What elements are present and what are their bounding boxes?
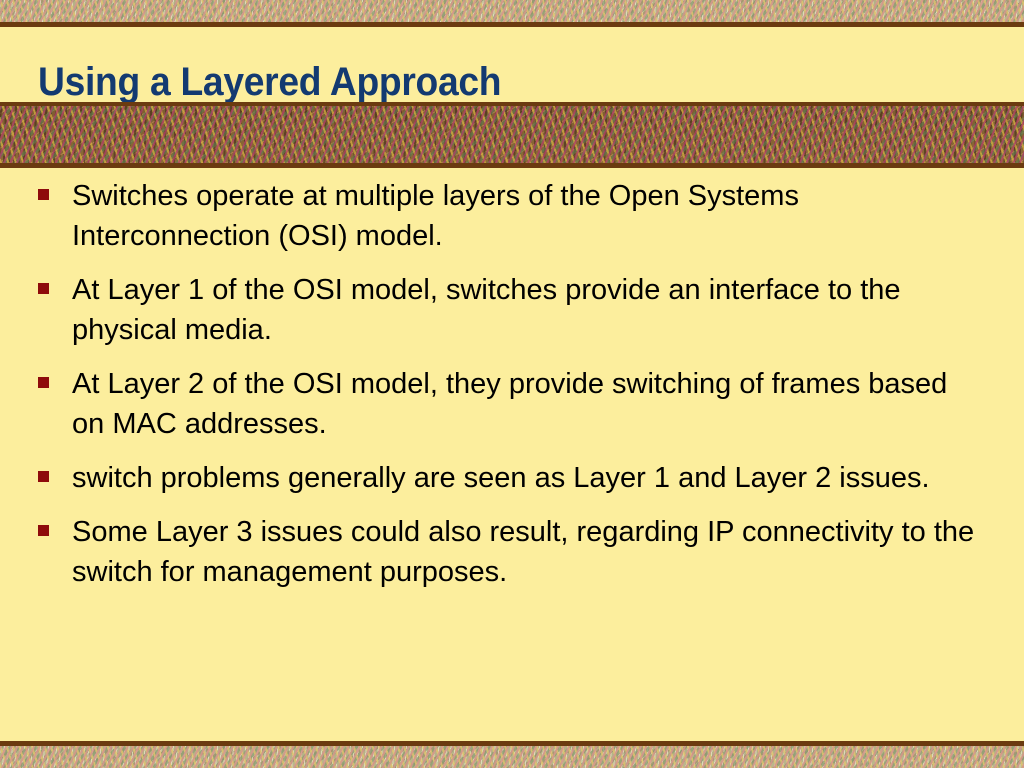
page-title: Using a Layered Approach	[38, 60, 501, 105]
list-item-label: Some Layer 3 issues could also result, r…	[72, 512, 982, 592]
title-area: Using a Layered Approach	[0, 27, 1024, 102]
top-texture-strip	[0, 0, 1024, 22]
list-item-label: Switches operate at multiple layers of t…	[72, 176, 982, 256]
square-bullet-icon	[38, 189, 49, 200]
slide-canvas: Using a Layered Approach Switches operat…	[0, 0, 1024, 768]
bottom-texture-strip	[0, 746, 1024, 768]
square-bullet-icon	[38, 377, 49, 388]
list-item: At Layer 2 of the OSI model, they provid…	[32, 364, 998, 444]
list-item: Switches operate at multiple layers of t…	[32, 176, 998, 256]
list-item-label: At Layer 2 of the OSI model, they provid…	[72, 364, 982, 444]
list-item-label: At Layer 1 of the OSI model, switches pr…	[72, 270, 982, 350]
header-band-bottom-rule	[0, 163, 1024, 168]
square-bullet-icon	[38, 471, 49, 482]
square-bullet-icon	[38, 525, 49, 536]
square-bullet-icon	[38, 283, 49, 294]
list-item: Some Layer 3 issues could also result, r…	[32, 512, 998, 592]
list-item: switch problems generally are seen as La…	[32, 458, 998, 498]
bullet-list: Switches operate at multiple layers of t…	[0, 176, 1024, 606]
list-item: At Layer 1 of the OSI model, switches pr…	[32, 270, 998, 350]
list-item-label: switch problems generally are seen as La…	[72, 458, 982, 498]
header-texture-band	[0, 106, 1024, 163]
